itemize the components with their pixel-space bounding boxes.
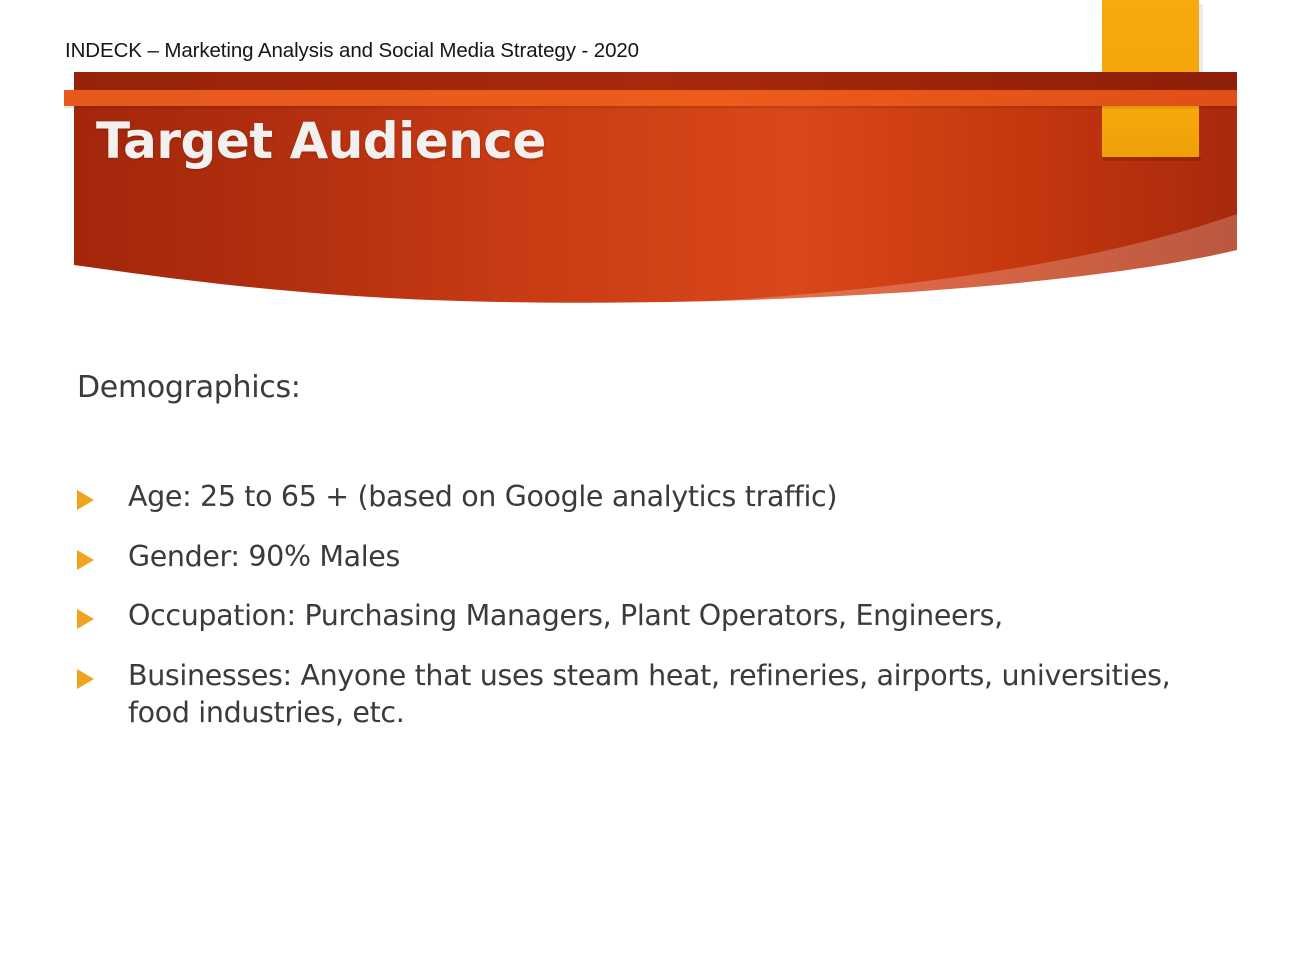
list-item-text: Occupation: Purchasing Managers, Plant O… xyxy=(128,597,1207,635)
slide-canvas: INDECK – Marketing Analysis and Social M… xyxy=(0,0,1300,975)
title-banner: Target Audience xyxy=(0,0,1300,320)
list-item-text: Businesses: Anyone that uses steam heat,… xyxy=(128,657,1207,732)
banner-top-band xyxy=(74,72,1237,92)
triangle-right-icon xyxy=(77,550,99,570)
bullet-list: Age: 25 to 65 + (based on Google analyti… xyxy=(77,478,1207,754)
list-item: Age: 25 to 65 + (based on Google analyti… xyxy=(77,478,1207,516)
triangle-right-icon xyxy=(77,669,99,689)
triangle-right-icon xyxy=(77,609,99,629)
orange-stripe xyxy=(64,90,1237,106)
list-item-text: Gender: 90% Males xyxy=(128,538,1207,576)
list-item: Businesses: Anyone that uses steam heat,… xyxy=(77,657,1207,732)
list-item-text: Age: 25 to 65 + (based on Google analyti… xyxy=(128,478,1207,516)
list-item: Occupation: Purchasing Managers, Plant O… xyxy=(77,597,1207,635)
slide-title: Target Audience xyxy=(96,113,546,171)
triangle-right-icon xyxy=(77,490,99,510)
list-item: Gender: 90% Males xyxy=(77,538,1207,576)
demographics-label: Demographics: xyxy=(77,370,301,405)
